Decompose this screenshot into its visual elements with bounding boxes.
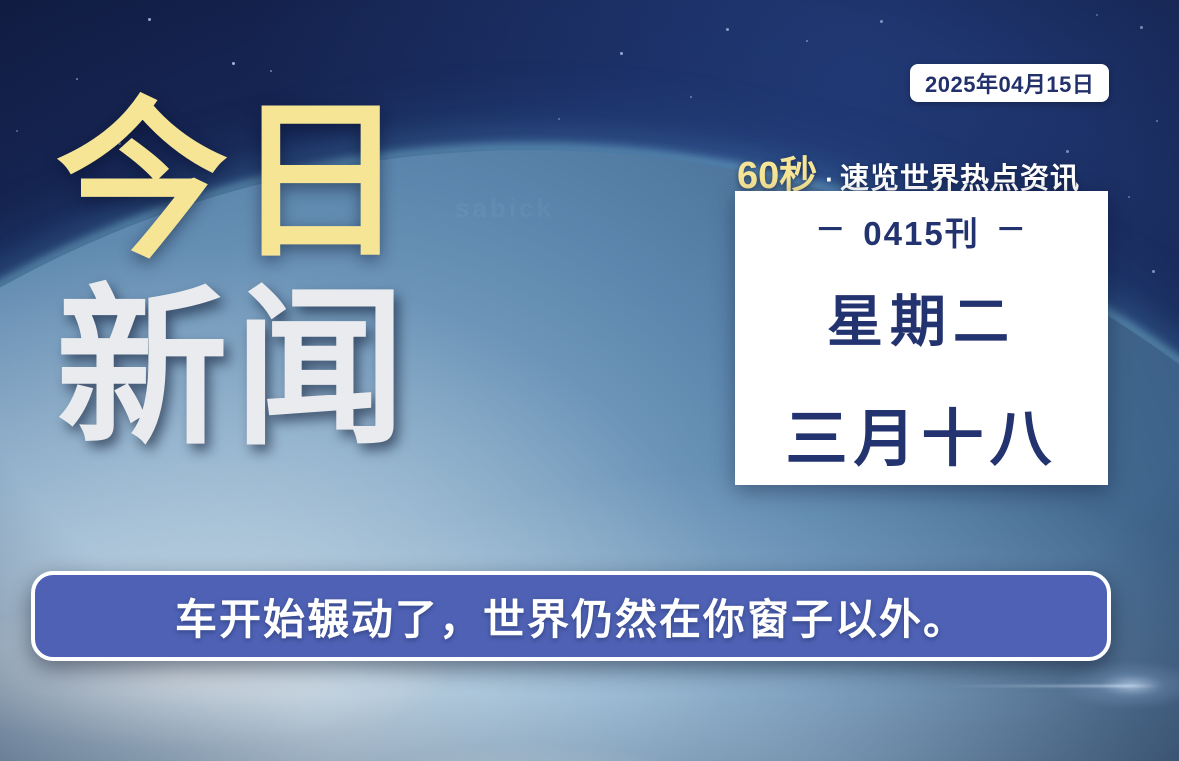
issue-card: － 0415刊 － 星期二 三月十八 — [735, 191, 1108, 485]
dash-right: － — [996, 216, 1028, 246]
date-badge: 2025年04月15日 — [910, 64, 1109, 102]
weekday-label: 星期二 — [827, 277, 1016, 358]
lens-flare-streak — [947, 685, 1157, 687]
title-line-today: 今日 — [56, 100, 476, 265]
quote-text: 车开始辗动了，世界仍然在你窗子以外。 — [175, 586, 967, 647]
news-poster: sabick 今日 新闻 2025年04月15日 60秒 · 速览世界热点资讯 … — [0, 0, 1179, 761]
issue-number: 0415刊 — [863, 207, 979, 255]
dash-left: － — [815, 216, 847, 246]
issue-row: － 0415刊 － — [815, 207, 1027, 255]
poster-title: 今日 新闻 — [56, 100, 476, 452]
quote-bar: 车开始辗动了，世界仍然在你窗子以外。 — [31, 571, 1111, 661]
title-line-news: 新闻 — [56, 287, 476, 452]
lunar-date-label: 三月十八 — [785, 388, 1057, 478]
